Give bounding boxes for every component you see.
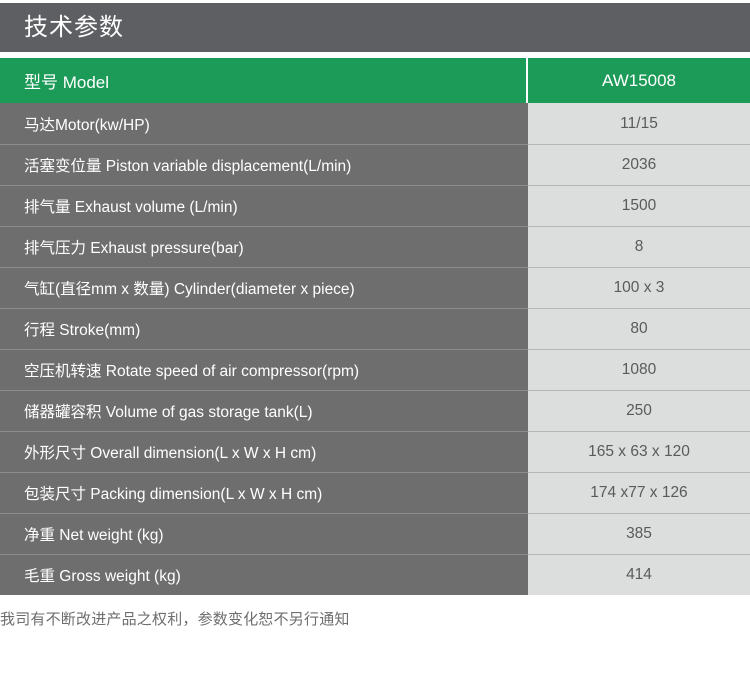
row-label: 马达Motor(kw/HP) [0, 103, 528, 144]
spec-table: 型号 Model AW15008 马达Motor(kw/HP) 11/15 活塞… [0, 58, 750, 595]
row-value: 8 [528, 226, 750, 267]
table-row: 马达Motor(kw/HP) 11/15 [0, 103, 750, 144]
row-label: 排气压力 Exhaust pressure(bar) [0, 226, 528, 267]
header-cell-model-label: 型号 Model [0, 58, 528, 103]
row-value: 414 [528, 554, 750, 595]
row-value: 250 [528, 390, 750, 431]
table-row: 净重 Net weight (kg) 385 [0, 513, 750, 554]
row-value: 385 [528, 513, 750, 554]
row-value: 1500 [528, 185, 750, 226]
table-header-row: 型号 Model AW15008 [0, 58, 750, 103]
row-value: 2036 [528, 144, 750, 185]
table-row: 排气压力 Exhaust pressure(bar) 8 [0, 226, 750, 267]
table-row: 包装尺寸 Packing dimension(L x W x H cm) 174… [0, 472, 750, 513]
table-row: 活塞变位量 Piston variable displacement(L/min… [0, 144, 750, 185]
table-row: 储器罐容积 Volume of gas storage tank(L) 250 [0, 390, 750, 431]
row-label: 空压机转速 Rotate speed of air compressor(rpm… [0, 349, 528, 390]
header-cell-model-value: AW15008 [528, 58, 750, 103]
page-title: 技术参数 [0, 16, 124, 40]
table-row: 空压机转速 Rotate speed of air compressor(rpm… [0, 349, 750, 390]
row-label: 包装尺寸 Packing dimension(L x W x H cm) [0, 472, 528, 513]
table-row: 毛重 Gross weight (kg) 414 [0, 554, 750, 595]
footer-disclaimer: 我司有不断改进产品之权利，参数变化恕不另行通知 [0, 612, 750, 627]
table-row: 气缸(直径mm x 数量) Cylinder(diameter x piece)… [0, 267, 750, 308]
table-row: 排气量 Exhaust volume (L/min) 1500 [0, 185, 750, 226]
row-value: 11/15 [528, 103, 750, 144]
row-value: 100 x 3 [528, 267, 750, 308]
table-row: 行程 Stroke(mm) 80 [0, 308, 750, 349]
row-label: 外形尺寸 Overall dimension(L x W x H cm) [0, 431, 528, 472]
row-label: 气缸(直径mm x 数量) Cylinder(diameter x piece) [0, 267, 528, 308]
row-label: 行程 Stroke(mm) [0, 308, 528, 349]
spec-sheet: 技术参数 型号 Model AW15008 马达Motor(kw/HP) 11/… [0, 0, 750, 674]
row-value: 80 [528, 308, 750, 349]
row-label: 排气量 Exhaust volume (L/min) [0, 185, 528, 226]
row-value: 165 x 63 x 120 [528, 431, 750, 472]
row-label: 活塞变位量 Piston variable displacement(L/min… [0, 144, 528, 185]
title-band: 技术参数 [0, 3, 750, 52]
row-label: 毛重 Gross weight (kg) [0, 554, 528, 595]
row-label: 储器罐容积 Volume of gas storage tank(L) [0, 390, 528, 431]
row-value: 174 x77 x 126 [528, 472, 750, 513]
row-label: 净重 Net weight (kg) [0, 513, 528, 554]
row-value: 1080 [528, 349, 750, 390]
table-row: 外形尺寸 Overall dimension(L x W x H cm) 165… [0, 431, 750, 472]
